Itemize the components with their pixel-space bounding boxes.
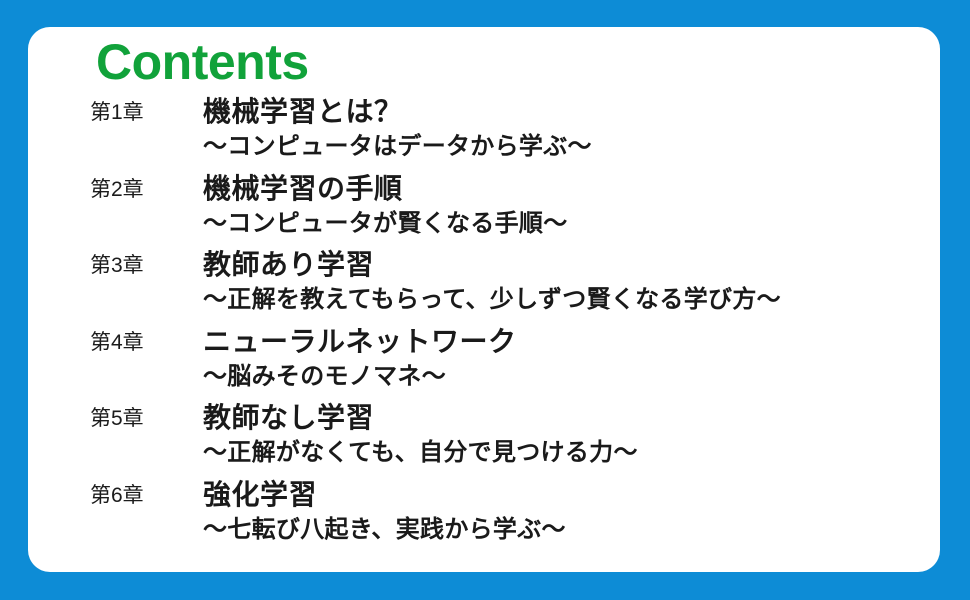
chapter-number: 第5章	[90, 405, 144, 433]
table-of-contents: 第1章 機械学習とは？ 〜コンピュータはデータから学ぶ〜 第2章 機械学習の手順…	[28, 97, 940, 556]
list-item[interactable]: 第5章 教師なし学習 〜正解がなくても、自分で見つける力〜	[28, 403, 940, 480]
list-item[interactable]: 第1章 機械学習とは？ 〜コンピュータはデータから学ぶ〜	[28, 97, 940, 174]
chapter-subtitle: 〜正解を教えてもらって、少しずつ賢くなる学び方〜	[203, 284, 781, 316]
slide-root: Contents 第1章 機械学習とは？ 〜コンピュータはデータから学ぶ〜 第2…	[0, 0, 970, 600]
chapter-subtitle: 〜正解がなくても、自分で見つける力〜	[203, 437, 638, 469]
chapter-number: 第4章	[90, 329, 144, 357]
chapter-subtitle: 〜コンピュータはデータから学ぶ〜	[203, 131, 592, 163]
chapter-title: 教師あり学習	[203, 248, 374, 282]
chapter-title: 機械学習とは？	[203, 95, 403, 129]
chapter-number: 第1章	[90, 99, 144, 127]
list-item[interactable]: 第4章 ニューラルネットワーク 〜脳みそのモノマネ〜	[28, 327, 940, 404]
chapter-number: 第3章	[90, 252, 144, 280]
list-item[interactable]: 第6章 強化学習 〜七転び八起き、実践から学ぶ〜	[28, 480, 940, 557]
content-card: Contents 第1章 機械学習とは？ 〜コンピュータはデータから学ぶ〜 第2…	[28, 27, 940, 572]
chapter-number: 第6章	[90, 482, 144, 510]
list-item[interactable]: 第3章 教師あり学習 〜正解を教えてもらって、少しずつ賢くなる学び方〜	[28, 250, 940, 327]
chapter-subtitle: 〜脳みそのモノマネ〜	[203, 361, 446, 393]
chapter-number: 第2章	[90, 176, 144, 204]
page-title: Contents	[96, 37, 309, 87]
chapter-title: 機械学習の手順	[203, 172, 403, 206]
chapter-title: 教師なし学習	[203, 401, 374, 435]
chapter-subtitle: 〜七転び八起き、実践から学ぶ〜	[203, 514, 566, 546]
chapter-subtitle: 〜コンピュータが賢くなる手順〜	[203, 208, 568, 240]
list-item[interactable]: 第2章 機械学習の手順 〜コンピュータが賢くなる手順〜	[28, 174, 940, 251]
chapter-title: 強化学習	[203, 478, 317, 512]
chapter-title: ニューラルネットワーク	[203, 325, 517, 359]
